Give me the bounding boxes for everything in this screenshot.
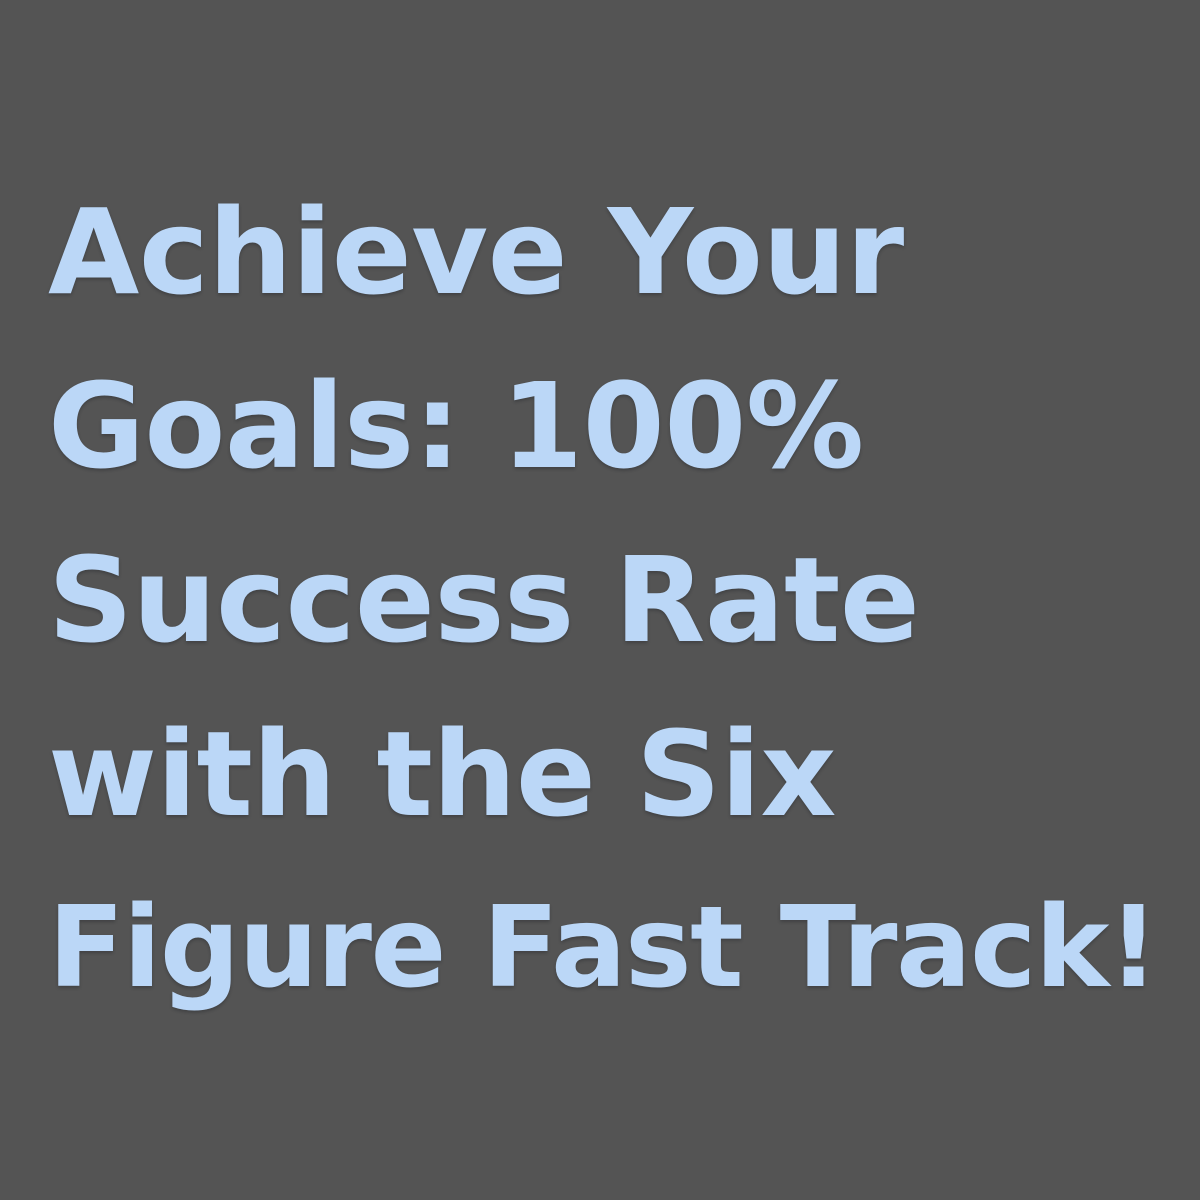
headline-line-1: Achieve Your	[48, 165, 1160, 339]
headline-line-5: Figure Fast Track!	[48, 861, 1160, 1035]
headline-line-2: Goals: 100%	[48, 339, 1160, 513]
headline-line-3: Success Rate	[48, 513, 1160, 687]
poster-canvas: Achieve Your Goals: 100% Success Rate wi…	[0, 0, 1200, 1200]
headline-line-4: with the Six	[48, 687, 1160, 861]
page-title: Achieve Your Goals: 100% Success Rate wi…	[48, 165, 1160, 1035]
